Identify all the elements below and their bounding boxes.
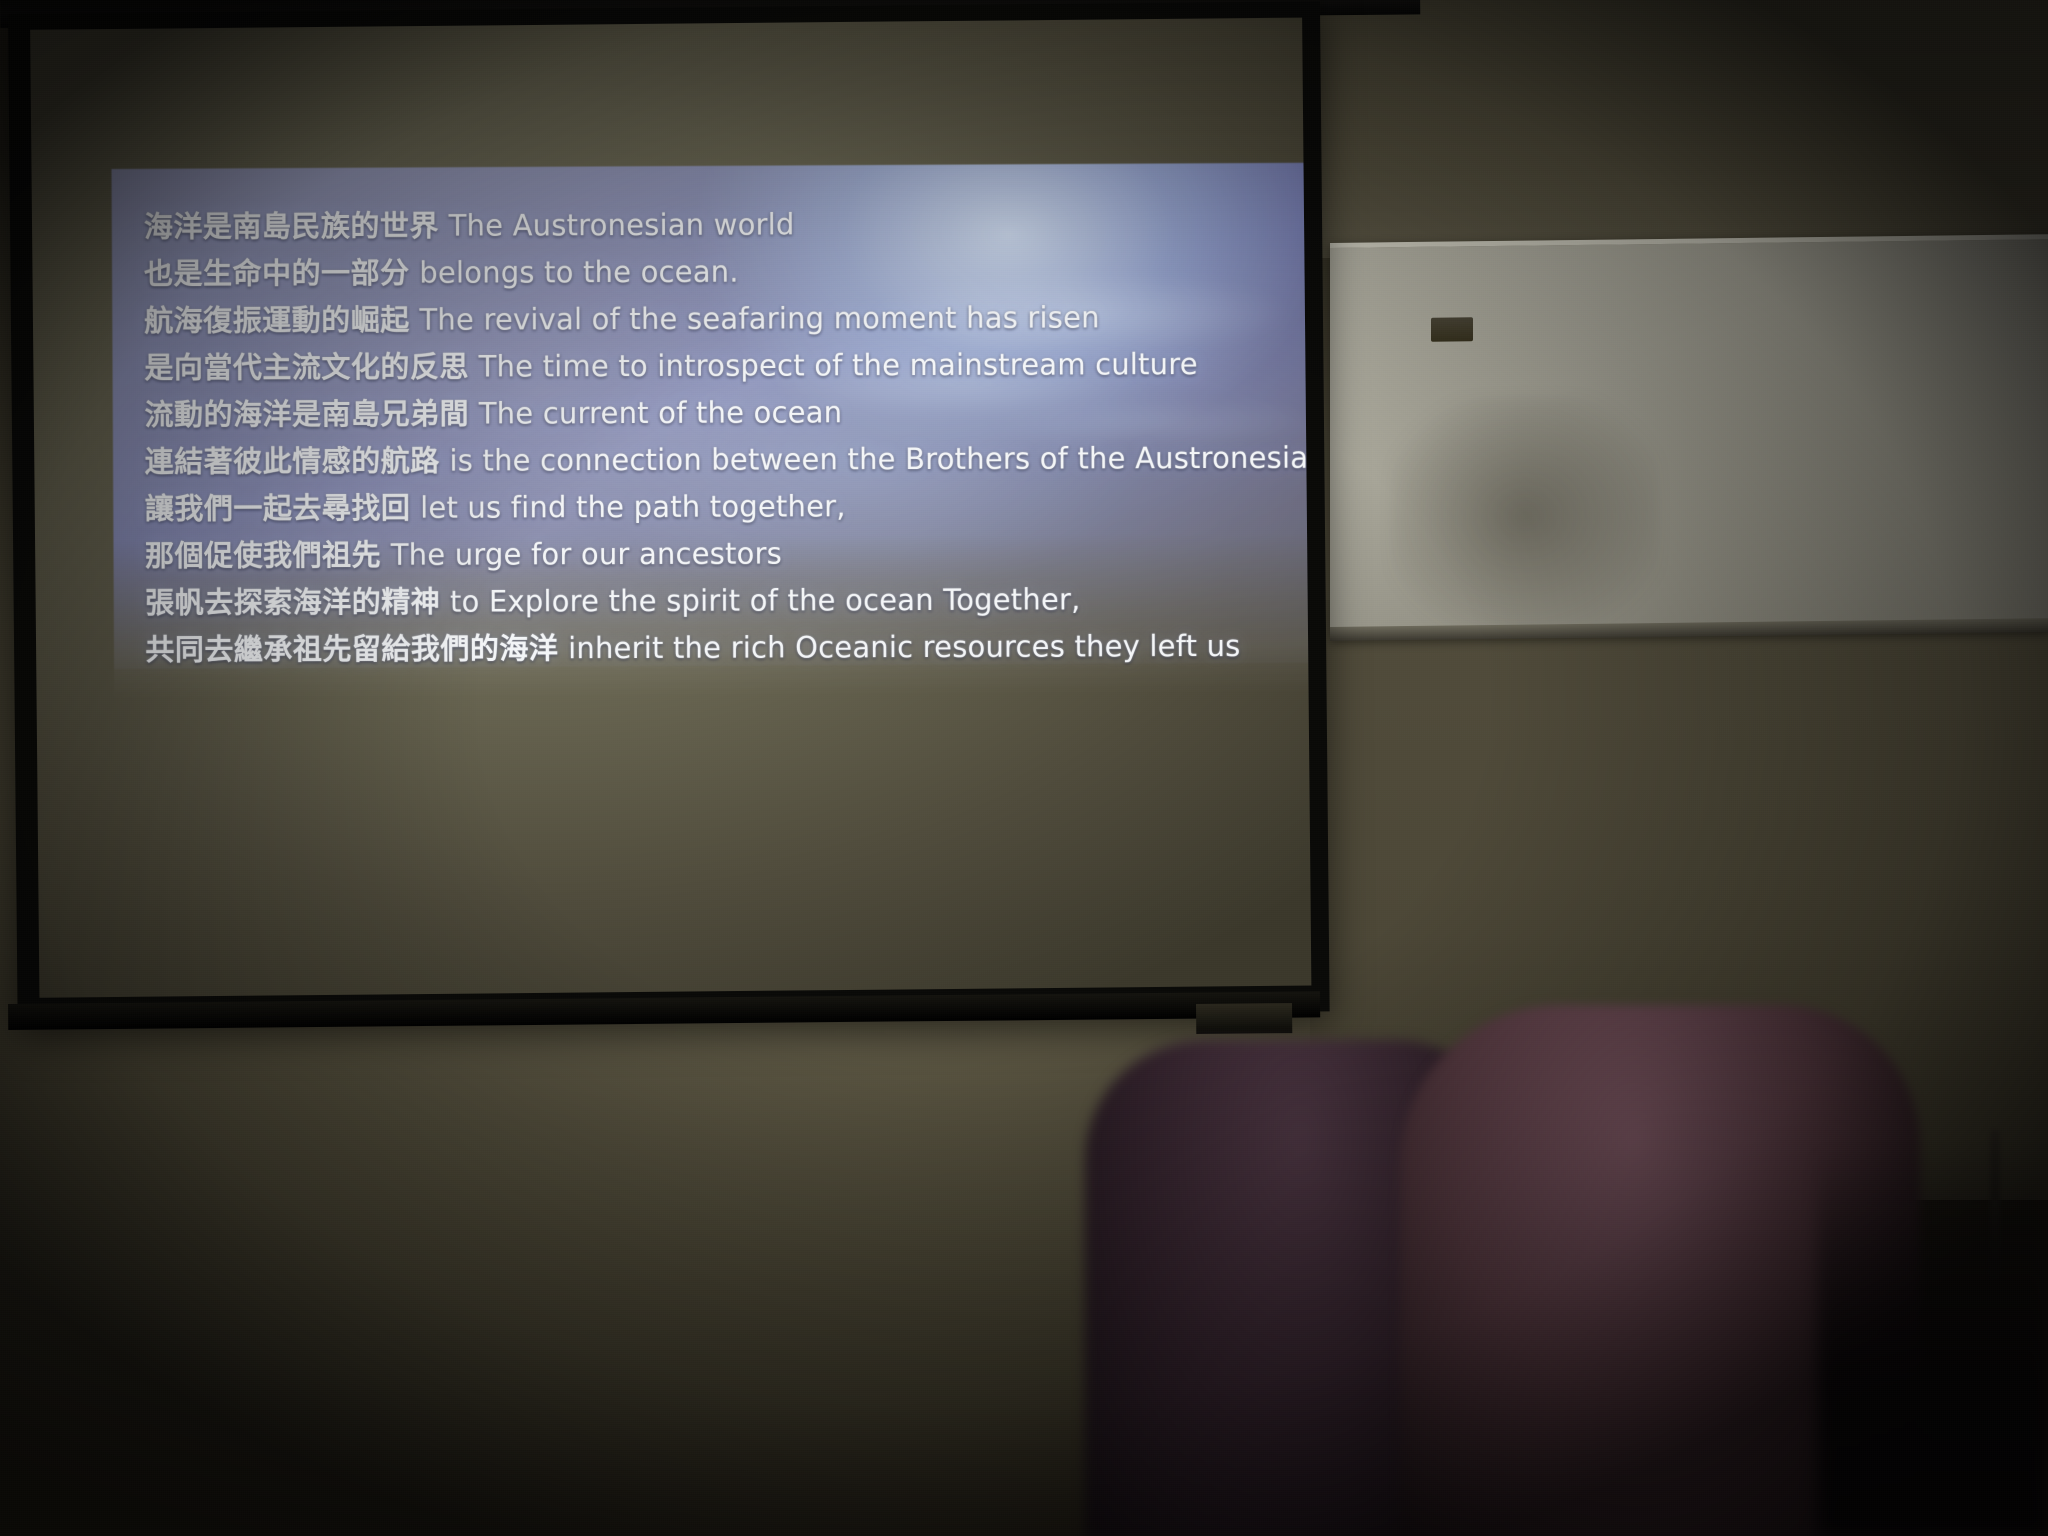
poem-line-en: The time to introspect of the mainstream… bbox=[479, 347, 1198, 384]
poem-line-zh: 航海復振運動的崛起 bbox=[144, 303, 410, 338]
poem-line-zh: 連結著彼此情感的航路 bbox=[145, 444, 440, 479]
poem-line: 那個促使我們祖先 The urge for our ancestors bbox=[145, 529, 1311, 580]
projection-screen-surface: 海洋是南島民族的世界 The Austronesian world 也是生命中的… bbox=[30, 18, 1311, 998]
poem-line-zh: 讓我們一起去尋找回 bbox=[145, 491, 411, 526]
poem-line: 海洋是南島民族的世界 The Austronesian world bbox=[144, 200, 1312, 251]
poem-line: 讓我們一起去尋找回 let us find the path together, bbox=[145, 482, 1312, 533]
poem-line-en: The current of the ocean bbox=[479, 395, 843, 430]
poem-line: 連結著彼此情感的航路 is the connection between the… bbox=[145, 435, 1312, 486]
poem-line-en: let us find the path together, bbox=[420, 489, 846, 524]
foreground-shadow bbox=[1818, 1150, 2048, 1536]
slide-poem-text: 海洋是南島民族的世界 The Austronesian world 也是生命中的… bbox=[144, 200, 1312, 674]
classroom-photo-scene: 海洋是南島民族的世界 The Austronesian world 也是生命中的… bbox=[0, 0, 2048, 1536]
projection-screen: 海洋是南島民族的世界 The Austronesian world 也是生命中的… bbox=[8, 1, 1330, 1024]
poem-line: 是向當代主流文化的反思 The time to introspect of th… bbox=[144, 341, 1311, 392]
poem-line-zh: 流動的海洋是南島兄弟間 bbox=[145, 397, 470, 432]
whiteboard-shadow bbox=[1390, 394, 1660, 637]
poem-line: 航海復振運動的崛起 The revival of the seafaring m… bbox=[144, 294, 1311, 345]
poem-line: 共同去繼承祖先留給我們的海洋 inherit the rich Oceanic … bbox=[145, 623, 1311, 674]
poem-line: 也是生命中的一部分 belongs to the ocean. bbox=[144, 247, 1311, 298]
poem-line-zh: 是向當代主流文化的反思 bbox=[144, 350, 469, 385]
wall-upper-right-section bbox=[1310, 0, 2048, 258]
poem-line-en: belongs to the ocean. bbox=[419, 255, 739, 290]
poem-line-en: The urge for our ancestors bbox=[391, 536, 782, 571]
poem-line-zh: 張帆去探索海洋的精神 bbox=[145, 585, 440, 620]
poem-line-en: The Austronesian world bbox=[449, 207, 795, 242]
poem-line: 張帆去探索海洋的精神 to Explore the spirit of the … bbox=[145, 576, 1311, 627]
poem-line: 流動的海洋是南島兄弟間 The current of the ocean bbox=[144, 388, 1311, 439]
poem-line-en: to Explore the spirit of the ocean Toget… bbox=[450, 582, 1081, 618]
whiteboard bbox=[1330, 234, 2048, 640]
poem-line-zh: 也是生命中的一部分 bbox=[144, 256, 410, 291]
poem-line-zh: 那個促使我們祖先 bbox=[145, 538, 381, 573]
poem-line-zh: 海洋是南島民族的世界 bbox=[144, 209, 439, 244]
marker-icon[interactable] bbox=[1431, 317, 1473, 342]
poem-line-en: inherit the rich Oceanic resources they … bbox=[568, 629, 1240, 665]
poem-line-en: is the connection between the Brothers o… bbox=[449, 441, 1311, 478]
projection-screen-pull-tab[interactable] bbox=[1196, 1003, 1292, 1034]
poem-line-en: The revival of the seafaring moment has … bbox=[419, 300, 1099, 336]
poem-line-zh: 共同去繼承祖先留給我們的海洋 bbox=[145, 631, 558, 666]
